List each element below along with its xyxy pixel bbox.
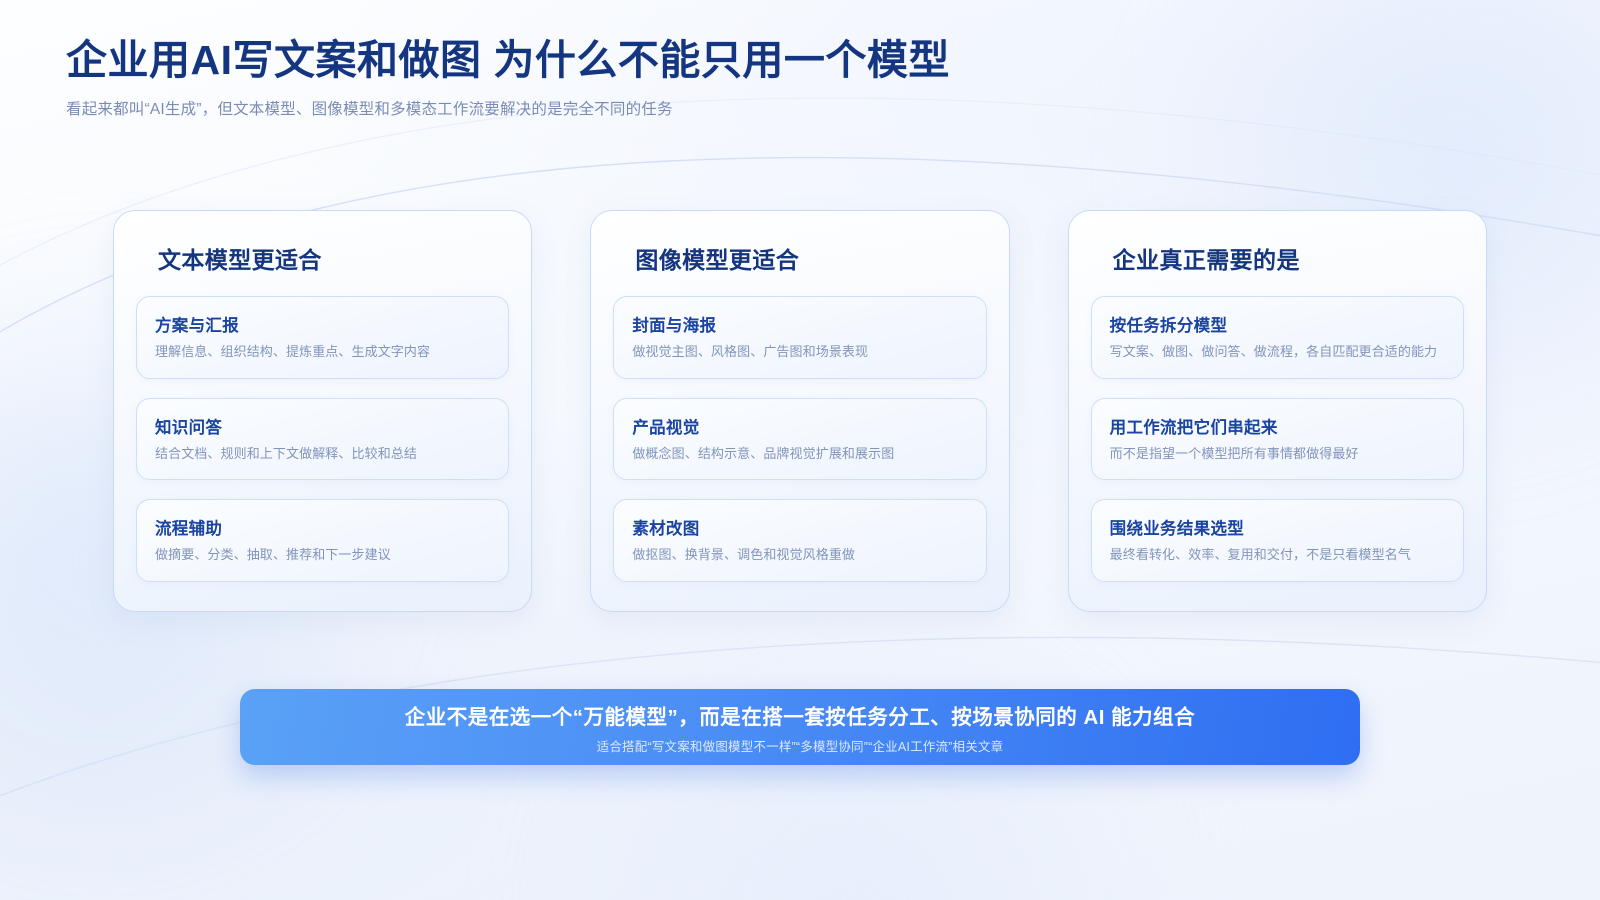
item-description: 而不是指望一个模型把所有事情都做得最好 [1110, 445, 1445, 463]
page-title: 企业用AI写文案和做图 为什么不能只用一个模型 [66, 36, 950, 84]
item-description: 做抠图、换背景、调色和视觉风格重做 [632, 546, 967, 564]
item-title: 按任务拆分模型 [1110, 312, 1445, 336]
item-description: 理解信息、组织结构、提炼重点、生成文字内容 [155, 343, 490, 361]
list-item[interactable]: 产品视觉 做概念图、结构示意、品牌视觉扩展和展示图 [613, 398, 986, 481]
column-card-image-model: 图像模型更适合 封面与海报 做视觉主图、风格图、广告图和场景表现 产品视觉 做概… [590, 210, 1009, 612]
item-title: 产品视觉 [632, 414, 967, 438]
list-item[interactable]: 方案与汇报 理解信息、组织结构、提炼重点、生成文字内容 [136, 296, 509, 379]
column-item-list: 方案与汇报 理解信息、组织结构、提炼重点、生成文字内容 知识问答 结合文档、规则… [136, 296, 509, 582]
column-item-list: 按任务拆分模型 写文案、做图、做问答、做流程，各自匹配更合适的能力 用工作流把它… [1091, 296, 1464, 582]
item-title: 用工作流把它们串起来 [1110, 414, 1445, 438]
banner-title: 企业不是在选一个“万能模型”，而是在搭一套按任务分工、按场景协同的 AI 能力组… [405, 700, 1195, 730]
infographic-canvas: 企业用AI写文案和做图 为什么不能只用一个模型 看起来都叫“AI生成”，但文本模… [0, 0, 1600, 900]
page-header: 企业用AI写文案和做图 为什么不能只用一个模型 看起来都叫“AI生成”，但文本模… [66, 36, 950, 119]
page-subtitle: 看起来都叫“AI生成”，但文本模型、图像模型和多模态工作流要解决的是完全不同的任… [66, 97, 950, 119]
item-description: 做摘要、分类、抽取、推荐和下一步建议 [155, 546, 490, 564]
list-item[interactable]: 用工作流把它们串起来 而不是指望一个模型把所有事情都做得最好 [1091, 398, 1464, 481]
list-item[interactable]: 知识问答 结合文档、规则和上下文做解释、比较和总结 [136, 398, 509, 481]
list-item[interactable]: 素材改图 做抠图、换背景、调色和视觉风格重做 [613, 499, 986, 582]
item-title: 素材改图 [632, 515, 967, 539]
conclusion-banner: 企业不是在选一个“万能模型”，而是在搭一套按任务分工、按场景协同的 AI 能力组… [240, 689, 1360, 765]
item-description: 结合文档、规则和上下文做解释、比较和总结 [155, 445, 490, 463]
item-description: 做视觉主图、风格图、广告图和场景表现 [632, 343, 967, 361]
item-title: 方案与汇报 [155, 312, 490, 336]
column-item-list: 封面与海报 做视觉主图、风格图、广告图和场景表现 产品视觉 做概念图、结构示意、… [613, 296, 986, 582]
comparison-columns: 文本模型更适合 方案与汇报 理解信息、组织结构、提炼重点、生成文字内容 知识问答… [113, 210, 1487, 612]
column-title: 图像模型更适合 [635, 241, 986, 275]
item-description: 写文案、做图、做问答、做流程，各自匹配更合适的能力 [1110, 343, 1445, 361]
column-card-text-model: 文本模型更适合 方案与汇报 理解信息、组织结构、提炼重点、生成文字内容 知识问答… [113, 210, 532, 612]
list-item[interactable]: 流程辅助 做摘要、分类、抽取、推荐和下一步建议 [136, 499, 509, 582]
item-title: 知识问答 [155, 414, 490, 438]
list-item[interactable]: 按任务拆分模型 写文案、做图、做问答、做流程，各自匹配更合适的能力 [1091, 296, 1464, 379]
column-title: 文本模型更适合 [158, 241, 509, 275]
background-glow-bottom [480, 640, 1240, 900]
item-description: 最终看转化、效率、复用和交付，不是只看模型名气 [1110, 546, 1445, 564]
list-item[interactable]: 围绕业务结果选型 最终看转化、效率、复用和交付，不是只看模型名气 [1091, 499, 1464, 582]
item-title: 流程辅助 [155, 515, 490, 539]
item-title: 围绕业务结果选型 [1110, 515, 1445, 539]
item-description: 做概念图、结构示意、品牌视觉扩展和展示图 [632, 445, 967, 463]
item-title: 封面与海报 [632, 312, 967, 336]
list-item[interactable]: 封面与海报 做视觉主图、风格图、广告图和场景表现 [613, 296, 986, 379]
column-title: 企业真正需要的是 [1113, 241, 1464, 275]
column-card-enterprise-needs: 企业真正需要的是 按任务拆分模型 写文案、做图、做问答、做流程，各自匹配更合适的… [1068, 210, 1487, 612]
banner-subtitle: 适合搭配“写文案和做图模型不一样”“多模型协同”“企业AI工作流”相关文章 [597, 736, 1004, 755]
